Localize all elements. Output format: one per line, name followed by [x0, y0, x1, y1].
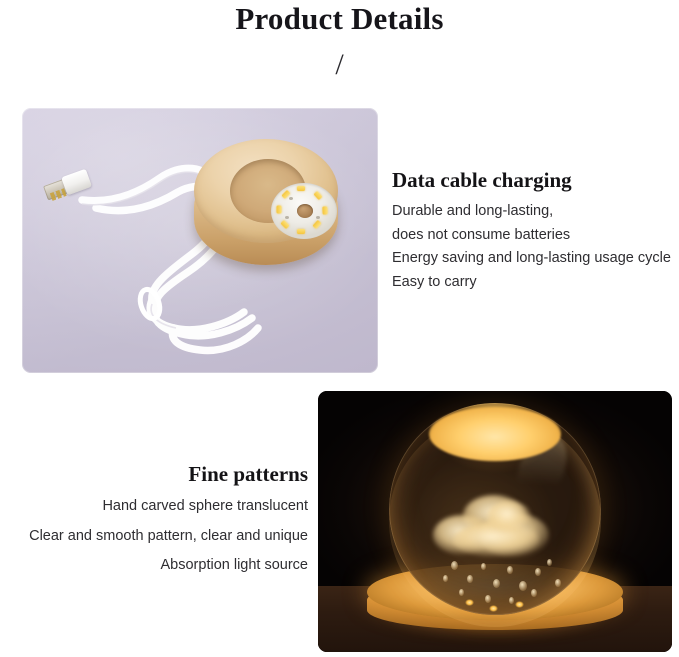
- led-chip: [297, 186, 305, 191]
- led-board-center-hole: [297, 204, 313, 218]
- base-led-reflection: [465, 599, 474, 606]
- wood-base-cavity: [230, 159, 306, 223]
- led-circuit-board: [271, 183, 337, 239]
- raindrop: [509, 597, 514, 604]
- photo-crystal-ball-cloud-lamp: [318, 391, 672, 652]
- solder-pad: [285, 216, 289, 219]
- led-chip: [280, 220, 289, 229]
- raindrop: [443, 575, 448, 582]
- raindrop: [535, 568, 541, 576]
- raindrop: [531, 589, 537, 597]
- raindrop: [481, 563, 486, 570]
- solder-pad: [289, 197, 293, 200]
- feature-line: Absorption light source: [0, 551, 308, 581]
- raindrop: [485, 595, 491, 603]
- feature-block-data-cable-charging: Data cable charging Durable and long-las…: [392, 167, 674, 294]
- cloud-lobe: [487, 501, 531, 533]
- wood-base-top-face: [194, 139, 338, 243]
- feature-block-fine-patterns: Fine patterns Hand carved sphere translu…: [0, 461, 308, 581]
- page-title: Product Details: [0, 0, 679, 38]
- feature-line: Energy saving and long-lasting usage cyc…: [392, 247, 674, 271]
- base-led-reflection: [489, 605, 498, 612]
- led-chip: [313, 191, 322, 200]
- feature-line: Easy to carry: [392, 271, 674, 295]
- feature-line: Durable and long-lasting,: [392, 200, 674, 224]
- crystal-glass-sphere: [389, 403, 601, 615]
- feature-line: Clear and smooth pattern, clear and uniq…: [0, 522, 308, 552]
- led-chip: [297, 229, 305, 234]
- feature-heading: Data cable charging: [392, 167, 674, 194]
- raindrop: [451, 561, 458, 570]
- base-led-reflection: [515, 601, 524, 608]
- led-chip: [277, 206, 282, 214]
- feature-line: does not consume batteries: [392, 224, 674, 248]
- raindrop: [507, 566, 513, 574]
- led-chip: [312, 220, 321, 229]
- raindrop: [459, 589, 464, 596]
- raindrop: [547, 559, 552, 566]
- feature-heading: Fine patterns: [0, 461, 308, 488]
- solder-pad: [316, 216, 320, 219]
- raindrop: [493, 579, 500, 588]
- photo-usb-cable-and-wooden-led-base: [22, 108, 378, 373]
- raindrop: [555, 579, 561, 587]
- usb-contact-pins: [50, 188, 67, 201]
- raindrop: [519, 581, 527, 591]
- sphere-top-light-pool: [429, 407, 561, 461]
- feature-line: Hand carved sphere translucent: [0, 492, 308, 522]
- wooden-led-base: [192, 139, 340, 271]
- title-divider-slash: /: [0, 48, 679, 82]
- raindrop: [467, 575, 473, 583]
- led-chip: [322, 206, 327, 214]
- etched-cloud-engraving: [433, 495, 557, 561]
